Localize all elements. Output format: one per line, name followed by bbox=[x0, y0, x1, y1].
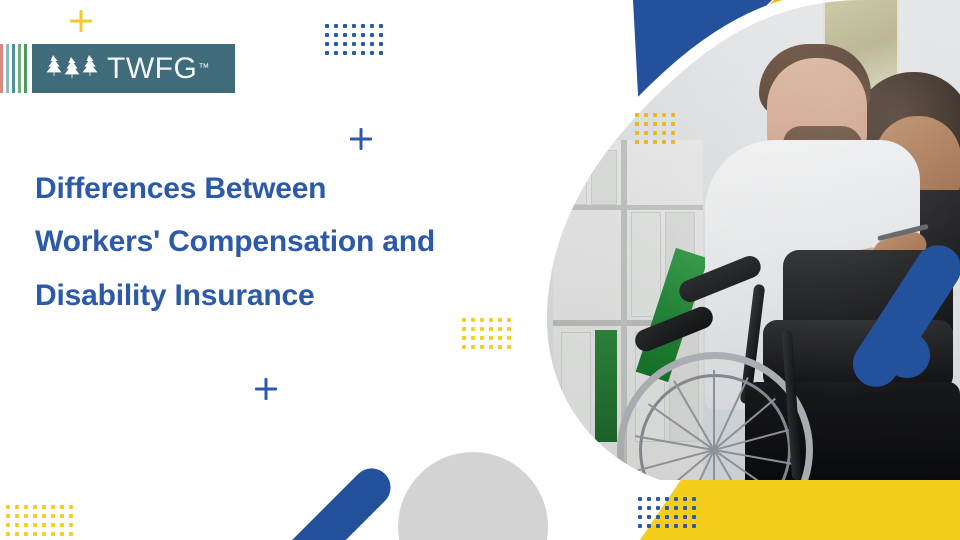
dot bbox=[665, 524, 669, 528]
dot bbox=[51, 523, 55, 527]
dot bbox=[352, 42, 356, 46]
dot bbox=[674, 506, 678, 510]
dot-grid-top-blue bbox=[325, 24, 383, 55]
dot bbox=[662, 113, 666, 117]
dot bbox=[24, 514, 28, 518]
dot bbox=[471, 318, 475, 322]
dot bbox=[498, 318, 502, 322]
dot bbox=[60, 532, 64, 536]
dot bbox=[352, 51, 356, 55]
dot bbox=[647, 524, 651, 528]
dot bbox=[343, 42, 347, 46]
dot bbox=[683, 506, 687, 510]
dot bbox=[692, 515, 696, 519]
dot bbox=[462, 327, 466, 331]
dot bbox=[653, 113, 657, 117]
dot bbox=[69, 523, 73, 527]
dot bbox=[15, 523, 19, 527]
dot-grid-bottom-blue bbox=[638, 497, 696, 528]
dot bbox=[683, 515, 687, 519]
dot bbox=[644, 140, 648, 144]
dot bbox=[665, 515, 669, 519]
dot bbox=[51, 532, 55, 536]
dot bbox=[638, 497, 642, 501]
dot bbox=[507, 318, 511, 322]
dot bbox=[674, 497, 678, 501]
dot bbox=[489, 327, 493, 331]
dot bbox=[498, 345, 502, 349]
dot bbox=[656, 497, 660, 501]
dot bbox=[647, 497, 651, 501]
dot bbox=[379, 51, 383, 55]
dot bbox=[42, 532, 46, 536]
dot bbox=[60, 505, 64, 509]
dot bbox=[647, 506, 651, 510]
dot-grid-bottom-left-yellow bbox=[6, 505, 73, 536]
plus-mark-blue-mid bbox=[350, 128, 372, 150]
dot bbox=[6, 514, 10, 518]
dot bbox=[352, 24, 356, 28]
dot bbox=[51, 514, 55, 518]
dot bbox=[24, 505, 28, 509]
slide-canvas: TWFG ™ Differences Between Workers' Comp… bbox=[0, 0, 960, 540]
dot bbox=[325, 51, 329, 55]
dot bbox=[462, 336, 466, 340]
dot bbox=[69, 514, 73, 518]
dot bbox=[343, 51, 347, 55]
logo-wordmark: TWFG bbox=[107, 54, 197, 84]
dot bbox=[361, 24, 365, 28]
dot bbox=[656, 524, 660, 528]
dot bbox=[480, 318, 484, 322]
dot bbox=[334, 33, 338, 37]
dot bbox=[480, 336, 484, 340]
dot bbox=[635, 113, 639, 117]
blue-dot-right-edge bbox=[884, 332, 930, 378]
dot bbox=[498, 336, 502, 340]
dot bbox=[656, 515, 660, 519]
dot bbox=[671, 113, 675, 117]
dot bbox=[653, 122, 657, 126]
dot bbox=[379, 42, 383, 46]
plus-mark-blue-low bbox=[255, 378, 277, 400]
dot bbox=[638, 524, 642, 528]
dot bbox=[24, 523, 28, 527]
dot bbox=[683, 497, 687, 501]
dot bbox=[662, 122, 666, 126]
dot bbox=[379, 24, 383, 28]
dot bbox=[361, 42, 365, 46]
dot bbox=[635, 140, 639, 144]
dot bbox=[507, 336, 511, 340]
dot bbox=[683, 524, 687, 528]
dot bbox=[370, 33, 374, 37]
dot bbox=[33, 514, 37, 518]
dot bbox=[6, 532, 10, 536]
dot-grid-mid-yellow bbox=[462, 318, 511, 349]
page-title-line-2: Workers' Compensation and bbox=[35, 215, 575, 268]
dot bbox=[644, 113, 648, 117]
dot bbox=[370, 42, 374, 46]
dot bbox=[489, 318, 493, 322]
dot bbox=[42, 505, 46, 509]
dot bbox=[343, 33, 347, 37]
dot bbox=[33, 532, 37, 536]
dot bbox=[635, 122, 639, 126]
dot bbox=[352, 33, 356, 37]
dot bbox=[647, 515, 651, 519]
dot bbox=[644, 131, 648, 135]
dot bbox=[665, 506, 669, 510]
dot bbox=[489, 336, 493, 340]
dot bbox=[692, 524, 696, 528]
dot bbox=[671, 140, 675, 144]
dot bbox=[361, 33, 365, 37]
dot bbox=[653, 131, 657, 135]
dot bbox=[325, 42, 329, 46]
dot bbox=[15, 532, 19, 536]
page-title: Differences Between Workers' Compensatio… bbox=[35, 162, 575, 322]
dot bbox=[51, 505, 55, 509]
three-pine-trees-icon bbox=[44, 54, 98, 84]
dot bbox=[33, 505, 37, 509]
dot bbox=[6, 505, 10, 509]
dot bbox=[638, 506, 642, 510]
dot bbox=[15, 505, 19, 509]
dot bbox=[674, 515, 678, 519]
dot bbox=[692, 506, 696, 510]
page-title-line-1: Differences Between bbox=[35, 162, 575, 215]
dot bbox=[489, 345, 493, 349]
logo-plate: TWFG ™ bbox=[32, 44, 235, 93]
dot bbox=[60, 523, 64, 527]
dot bbox=[471, 345, 475, 349]
dot bbox=[674, 524, 678, 528]
dot bbox=[498, 327, 502, 331]
dot bbox=[15, 514, 19, 518]
dot bbox=[635, 131, 639, 135]
dot bbox=[33, 523, 37, 527]
dot bbox=[638, 515, 642, 519]
twfg-logo[interactable]: TWFG ™ bbox=[0, 44, 235, 93]
dot bbox=[69, 532, 73, 536]
dot bbox=[471, 336, 475, 340]
dot bbox=[662, 140, 666, 144]
dot bbox=[644, 122, 648, 126]
logo-trademark: ™ bbox=[198, 63, 209, 74]
dot bbox=[480, 345, 484, 349]
dot bbox=[361, 51, 365, 55]
dot bbox=[379, 33, 383, 37]
page-title-line-3: Disability Insurance bbox=[35, 269, 575, 322]
dot bbox=[325, 33, 329, 37]
logo-stripes bbox=[0, 44, 27, 93]
dot bbox=[6, 523, 10, 527]
dot bbox=[662, 131, 666, 135]
dot bbox=[665, 497, 669, 501]
dot bbox=[692, 497, 696, 501]
dot bbox=[24, 532, 28, 536]
dot bbox=[334, 24, 338, 28]
dot bbox=[471, 327, 475, 331]
dot-grid-photo-yellow bbox=[635, 113, 675, 144]
dot bbox=[42, 514, 46, 518]
dot bbox=[507, 345, 511, 349]
dot bbox=[370, 51, 374, 55]
dot bbox=[653, 140, 657, 144]
dot bbox=[334, 42, 338, 46]
dot bbox=[462, 318, 466, 322]
dot bbox=[480, 327, 484, 331]
dot bbox=[334, 51, 338, 55]
dot bbox=[656, 506, 660, 510]
dot bbox=[507, 327, 511, 331]
dot bbox=[343, 24, 347, 28]
dot bbox=[671, 131, 675, 135]
plus-mark-yellow-top bbox=[70, 10, 92, 32]
dot bbox=[60, 514, 64, 518]
dot bbox=[69, 505, 73, 509]
dot bbox=[671, 122, 675, 126]
dot bbox=[325, 24, 329, 28]
dot bbox=[42, 523, 46, 527]
dot bbox=[370, 24, 374, 28]
dot bbox=[462, 345, 466, 349]
